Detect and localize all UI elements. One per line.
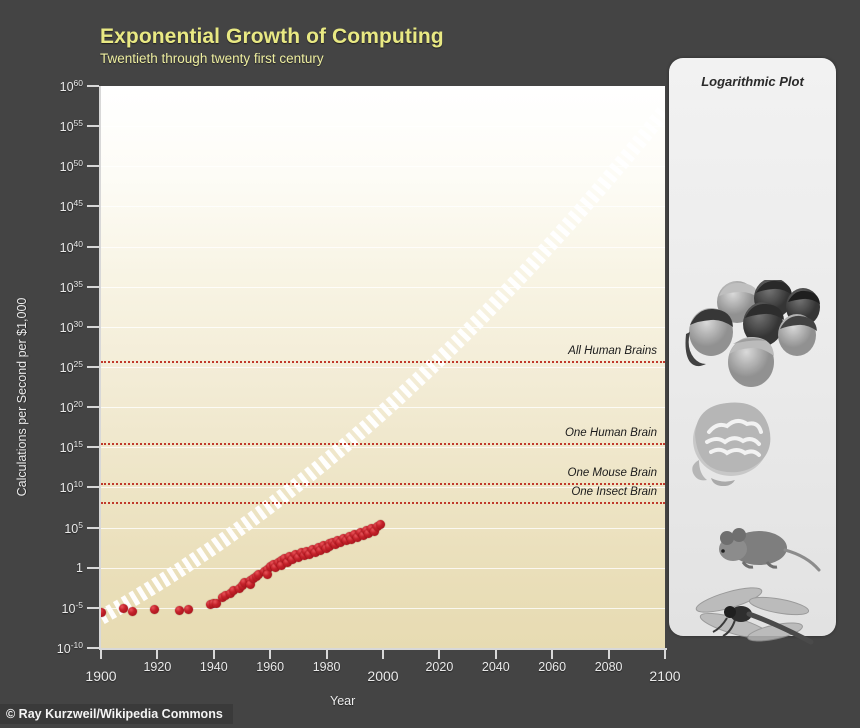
x-axis-tick (551, 648, 553, 659)
y-axis-tick (87, 205, 99, 207)
y-axis-tick (87, 85, 99, 87)
data-point (325, 542, 334, 551)
y-axis-tick-label: 1040 (60, 238, 83, 254)
data-point (252, 572, 261, 581)
data-point (283, 558, 292, 567)
x-axis-title: Year (330, 694, 355, 708)
y-axis-tick-label: 1055 (60, 118, 83, 134)
threshold-line (101, 502, 665, 504)
plot-area: All Human BrainsOne Human BrainOne Mouse… (101, 86, 665, 648)
data-point (263, 570, 272, 579)
data-point (373, 522, 382, 531)
data-point (246, 580, 255, 589)
data-point (322, 544, 331, 553)
gridline (101, 166, 665, 167)
threshold-line (101, 361, 665, 363)
dragonfly-illustration (683, 582, 823, 656)
human-heads-illustration (677, 280, 827, 392)
data-point (314, 543, 323, 552)
data-point (342, 536, 351, 545)
threshold-label: One Insect Brain (571, 486, 657, 498)
data-point (333, 536, 342, 545)
gridline (101, 608, 665, 609)
data-point (359, 531, 368, 540)
data-point (209, 599, 218, 608)
x-axis-tick (495, 648, 497, 659)
gridline (101, 327, 665, 328)
data-point (339, 534, 348, 543)
data-point (249, 574, 258, 583)
y-axis-tick-label: 1025 (60, 359, 83, 375)
y-axis-tick (87, 607, 99, 609)
y-axis-tick (87, 246, 99, 248)
data-point (246, 576, 255, 585)
y-axis-tick (87, 446, 99, 448)
data-point (294, 553, 303, 562)
y-axis-tick-label: 105 (64, 519, 83, 535)
threshold-label: One Mouse Brain (568, 467, 658, 479)
x-axis-tick (269, 648, 271, 659)
y-axis-tick-label: 10-10 (57, 640, 83, 656)
data-point (277, 556, 286, 565)
x-axis-tick-label: 1940 (200, 660, 228, 674)
data-point (277, 561, 286, 570)
data-point (300, 551, 309, 560)
data-point (316, 546, 325, 555)
y-axis-tick-label: 1010 (60, 479, 83, 495)
threshold-line (101, 483, 665, 485)
y-axis-tick-label: 1030 (60, 319, 83, 335)
y-axis-tick (87, 366, 99, 368)
y-axis-title: Calculations per Second per $1,000 (15, 247, 29, 547)
human-brain-head-illustration (681, 400, 785, 486)
attribution-credit: © Ray Kurzweil/Wikipedia Commons (0, 704, 233, 724)
data-point (235, 584, 244, 593)
y-axis-line (99, 86, 101, 649)
y-axis-tick (87, 326, 99, 328)
x-axis-tick (156, 648, 158, 659)
mouse-illustration (717, 524, 825, 576)
data-point (101, 608, 106, 617)
data-point (285, 552, 294, 561)
x-axis-tick (326, 648, 328, 659)
x-axis-tick-label: 1980 (313, 660, 341, 674)
y-axis-tick-label: 1050 (60, 158, 83, 174)
data-point (238, 581, 247, 590)
page-title: Exponential Growth of Computing (100, 26, 444, 48)
chart-canvas: Exponential Growth of Computing Twentiet… (0, 0, 860, 728)
x-axis-tick-label: 2100 (649, 668, 680, 684)
data-point (226, 589, 235, 598)
gridline (101, 367, 665, 368)
x-axis-tick (100, 648, 102, 659)
y-axis-tick-label: 1015 (60, 439, 83, 455)
gridline (101, 447, 665, 448)
data-point (302, 547, 311, 556)
x-axis-tick (382, 648, 384, 659)
data-point (280, 554, 289, 563)
trend-band-path (101, 110, 665, 617)
x-axis-tick (664, 648, 666, 659)
x-axis-tick-label: 1900 (85, 668, 116, 684)
y-axis-tick-label: 1060 (60, 78, 83, 94)
data-point (254, 570, 263, 579)
threshold-line (101, 443, 665, 445)
y-axis-tick-label: 1020 (60, 399, 83, 415)
y-axis-tick (87, 527, 99, 529)
data-point (274, 558, 283, 567)
data-point (328, 538, 337, 547)
y-axis-tick-label: 1045 (60, 198, 83, 214)
data-point (288, 555, 297, 564)
gridline (101, 568, 665, 569)
data-point (263, 565, 272, 574)
data-point (345, 532, 354, 541)
x-axis-tick-label: 2060 (538, 660, 566, 674)
x-axis-tick (213, 648, 215, 659)
page-subtitle: Twentieth through twenty first century (100, 51, 444, 66)
gridline (101, 528, 665, 529)
y-axis-tick (87, 486, 99, 488)
x-axis-tick-label: 1960 (256, 660, 284, 674)
data-point (218, 593, 227, 602)
data-point (184, 605, 193, 614)
gridline (101, 126, 665, 127)
data-point (297, 548, 306, 557)
x-axis-tick-label: 1920 (143, 660, 171, 674)
data-point (353, 533, 362, 542)
data-point (150, 605, 159, 614)
x-axis-tick-label: 2080 (595, 660, 623, 674)
data-point (356, 528, 365, 537)
threshold-label: One Human Brain (565, 427, 657, 439)
y-axis-tick (87, 165, 99, 167)
y-axis-tick (87, 406, 99, 408)
gridline (101, 247, 665, 248)
threshold-label: All Human Brains (568, 345, 657, 357)
y-axis-tick-label: 10-5 (62, 600, 83, 616)
side-panel: Logarithmic Plot (669, 58, 836, 636)
data-point (331, 540, 340, 549)
x-axis-tick-label: 2020 (425, 660, 453, 674)
data-point (229, 586, 238, 595)
data-point (319, 541, 328, 550)
data-point (291, 550, 300, 559)
y-axis-tick (87, 125, 99, 127)
x-axis-tick (438, 648, 440, 659)
data-point (221, 591, 230, 600)
y-axis-tick-label: 1035 (60, 279, 83, 295)
title-block: Exponential Growth of Computing Twentiet… (100, 26, 444, 66)
data-point (308, 545, 317, 554)
data-point (325, 539, 334, 548)
data-point (240, 578, 249, 587)
y-axis-tick (87, 647, 99, 649)
data-point (311, 548, 320, 557)
gridline (101, 407, 665, 408)
gridline (101, 206, 665, 207)
x-axis-tick-label: 2000 (367, 668, 398, 684)
x-axis-tick-label: 2040 (482, 660, 510, 674)
data-point (350, 530, 359, 539)
side-panel-label: Logarithmic Plot (669, 74, 836, 89)
data-point (364, 529, 373, 538)
y-axis-tick-label: 1 (76, 561, 83, 575)
data-point (347, 535, 356, 544)
data-point (305, 550, 314, 559)
x-axis-tick (608, 648, 610, 659)
data-point (336, 538, 345, 547)
y-axis-tick (87, 286, 99, 288)
y-axis-tick (87, 567, 99, 569)
gridline (101, 287, 665, 288)
